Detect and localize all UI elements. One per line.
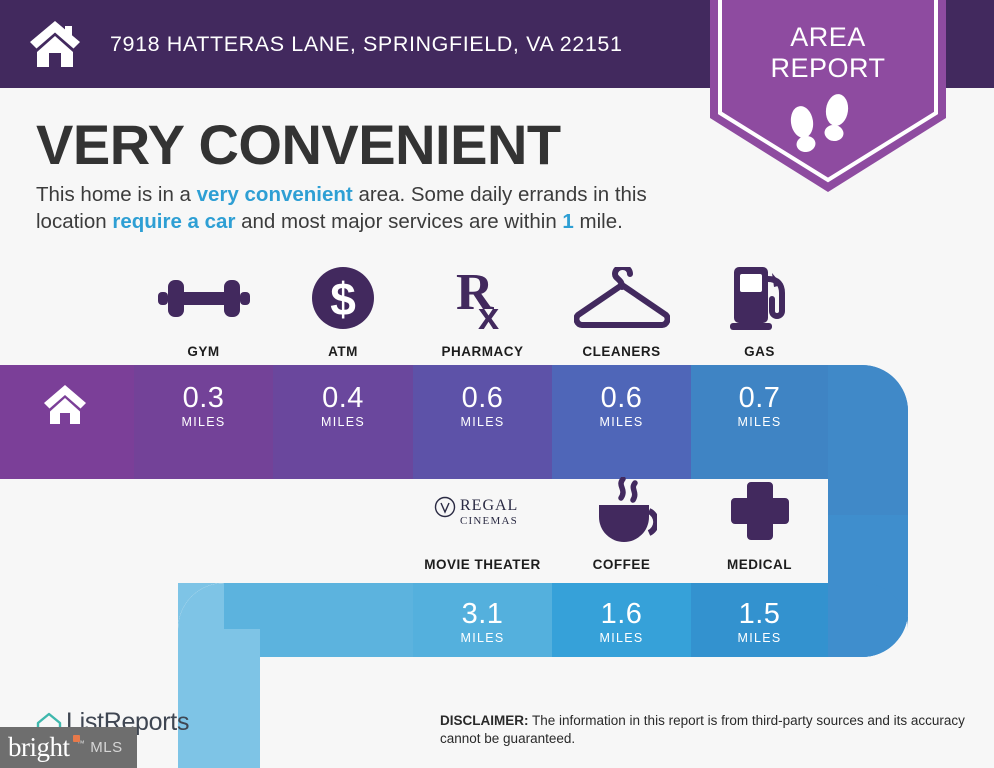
watermark-word: bright bbox=[8, 732, 70, 762]
watermark-suffix: MLS bbox=[90, 739, 122, 756]
summary-text: This home is in a very convenient area. … bbox=[36, 181, 706, 235]
distance-bar-row-2 bbox=[224, 583, 828, 657]
svg-text:$: $ bbox=[330, 273, 356, 325]
amenity-label: GYM bbox=[187, 344, 219, 359]
summary-highlight-3: 1 bbox=[562, 210, 573, 233]
amenity-gym: GYM bbox=[134, 262, 273, 359]
page-title: VERY CONVENIENT bbox=[36, 112, 561, 177]
home-marker-icon bbox=[42, 383, 88, 426]
amenity-label: CLEANERS bbox=[582, 344, 660, 359]
amenity-label: GAS bbox=[744, 344, 775, 359]
amenity-label: COFFEE bbox=[593, 557, 651, 572]
amenity-label: ATM bbox=[328, 344, 358, 359]
amenity-label: MOVIE THEATER bbox=[424, 557, 541, 572]
amenity-gas: GAS bbox=[691, 262, 828, 359]
summary-highlight-2: require a car bbox=[112, 210, 235, 233]
area-report-badge: AREA REPORT bbox=[710, 0, 946, 192]
dumbbell-icon bbox=[158, 262, 250, 334]
area-report-page: 7918 HATTERAS LANE, SPRINGFIELD, VA 2215… bbox=[0, 0, 994, 768]
amenity-pharmacy: R x PHARMACY bbox=[413, 262, 552, 359]
amenity-medical: MEDICAL bbox=[691, 475, 828, 572]
amenity-label: PHARMACY bbox=[441, 344, 523, 359]
svg-text:REGAL: REGAL bbox=[460, 497, 518, 514]
watermark-dot bbox=[73, 735, 80, 742]
summary-part-3: and most major services are within bbox=[235, 210, 562, 233]
disclaimer-label: DISCLAIMER: bbox=[440, 713, 529, 728]
summary-part-4: mile. bbox=[574, 210, 623, 233]
rx-icon: R x bbox=[454, 262, 512, 334]
coffee-cup-icon bbox=[587, 475, 657, 547]
watermark-brand: bright ™ bbox=[8, 732, 84, 763]
bright-mls-watermark: bright ™ MLS bbox=[0, 727, 137, 768]
property-address: 7918 HATTERAS LANE, SPRINGFIELD, VA 2215… bbox=[110, 32, 623, 57]
summary-highlight-1: very convenient bbox=[197, 183, 353, 206]
regal-cinemas-logo: REGAL CINEMAS bbox=[433, 475, 533, 547]
disclaimer: DISCLAIMER: The information in this repo… bbox=[440, 712, 985, 748]
svg-text:x: x bbox=[478, 296, 499, 331]
svg-text:CINEMAS: CINEMAS bbox=[460, 515, 518, 527]
amenity-label: MEDICAL bbox=[727, 557, 792, 572]
amenity-cleaners: CLEANERS bbox=[552, 262, 691, 359]
house-icon bbox=[28, 19, 82, 69]
amenity-atm: $ ATM bbox=[273, 262, 413, 359]
amenity-icons-row-2: REGAL CINEMAS MOVIE THEATER COFFEE bbox=[413, 475, 828, 572]
amenity-icons-row-1: GYM $ ATM R x PHARMACY bbox=[134, 262, 828, 359]
gas-pump-icon bbox=[730, 262, 790, 334]
dollar-coin-icon: $ bbox=[312, 262, 374, 334]
amenity-movie-theater: REGAL CINEMAS MOVIE THEATER bbox=[413, 475, 552, 572]
medical-cross-icon bbox=[729, 475, 791, 547]
summary-part-1: This home is in a bbox=[36, 183, 197, 206]
hanger-icon bbox=[574, 262, 670, 334]
amenity-coffee: COFFEE bbox=[552, 475, 691, 572]
